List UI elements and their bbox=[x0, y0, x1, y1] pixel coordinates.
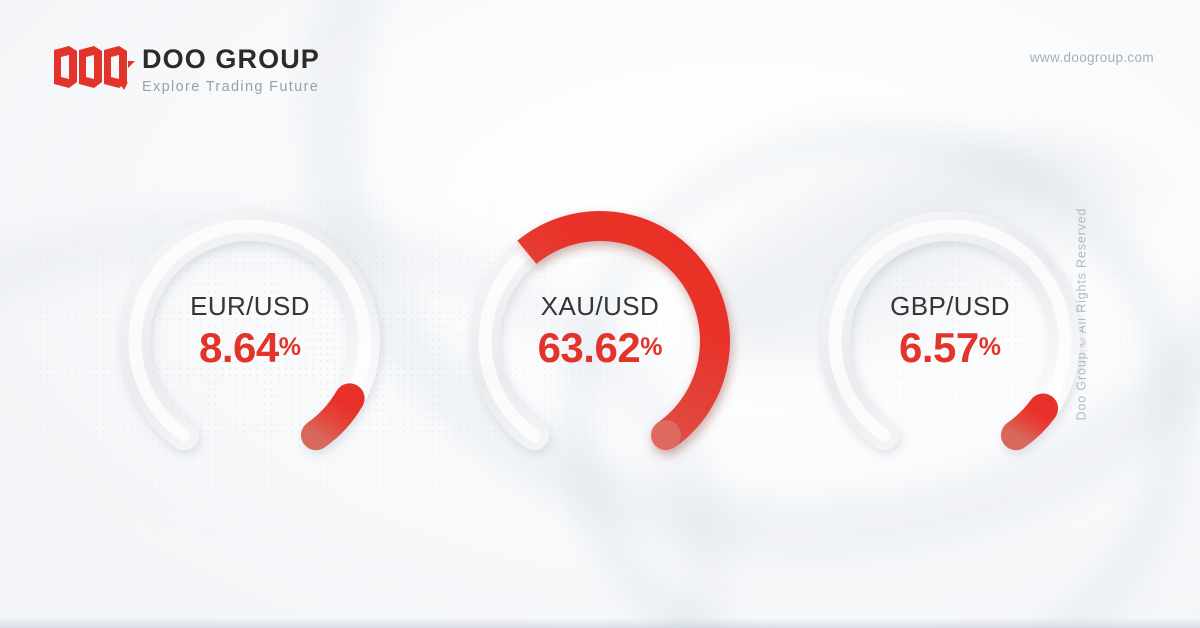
gauge-xau-usd: XAU/USD 63.62% bbox=[455, 196, 745, 486]
pair-label: GBP/USD bbox=[805, 292, 1095, 322]
pair-label: EUR/USD bbox=[105, 292, 395, 322]
percent-sign: % bbox=[640, 333, 662, 361]
gauge-gbp-usd-readout: GBP/USD 6.57% bbox=[805, 292, 1095, 370]
brand-name: DOO GROUP bbox=[142, 45, 320, 73]
percent-readout: 6.57% bbox=[805, 326, 1095, 370]
percent-value: 6.57 bbox=[899, 324, 979, 371]
gauge-xau-usd-readout: XAU/USD 63.62% bbox=[455, 292, 745, 370]
gauge-eur-usd: EUR/USD 8.64% bbox=[105, 196, 395, 486]
gauge-value-cap bbox=[651, 420, 681, 450]
header: DOO GROUP Explore Trading Future www.doo… bbox=[0, 0, 1200, 128]
brand-tagline-wrap: Explore Trading Future bbox=[142, 73, 320, 95]
brand-tagline: Explore Trading Future bbox=[142, 79, 320, 95]
website-url[interactable]: www.doogroup.com bbox=[1030, 50, 1154, 65]
pair-label: XAU/USD bbox=[455, 292, 745, 322]
triangle-accent-icon bbox=[128, 61, 135, 68]
percent-value: 63.62 bbox=[538, 324, 641, 371]
gauge-chart-group: EUR/USD 8.64% bbox=[0, 196, 1200, 486]
brand-logo[interactable]: DOO GROUP Explore Trading Future bbox=[52, 44, 320, 95]
gauge-eur-usd-readout: EUR/USD 8.64% bbox=[105, 292, 395, 370]
percent-sign: % bbox=[979, 333, 1001, 361]
banner-root: DOO GROUP Explore Trading Future www.doo… bbox=[0, 0, 1200, 628]
percent-value: 8.64 bbox=[199, 324, 279, 371]
gauge-gbp-usd: GBP/USD 6.57% bbox=[805, 196, 1095, 486]
background-bottom-edge bbox=[0, 618, 1200, 628]
percent-sign: % bbox=[279, 333, 301, 361]
percent-readout: 63.62% bbox=[455, 326, 745, 370]
gauge-value-arc bbox=[316, 398, 350, 435]
doo-logo-mark-icon bbox=[52, 44, 130, 90]
gauge-value-arc bbox=[1016, 409, 1043, 436]
percent-readout: 8.64% bbox=[105, 326, 395, 370]
brand-wordmark: DOO GROUP Explore Trading Future bbox=[142, 44, 320, 95]
